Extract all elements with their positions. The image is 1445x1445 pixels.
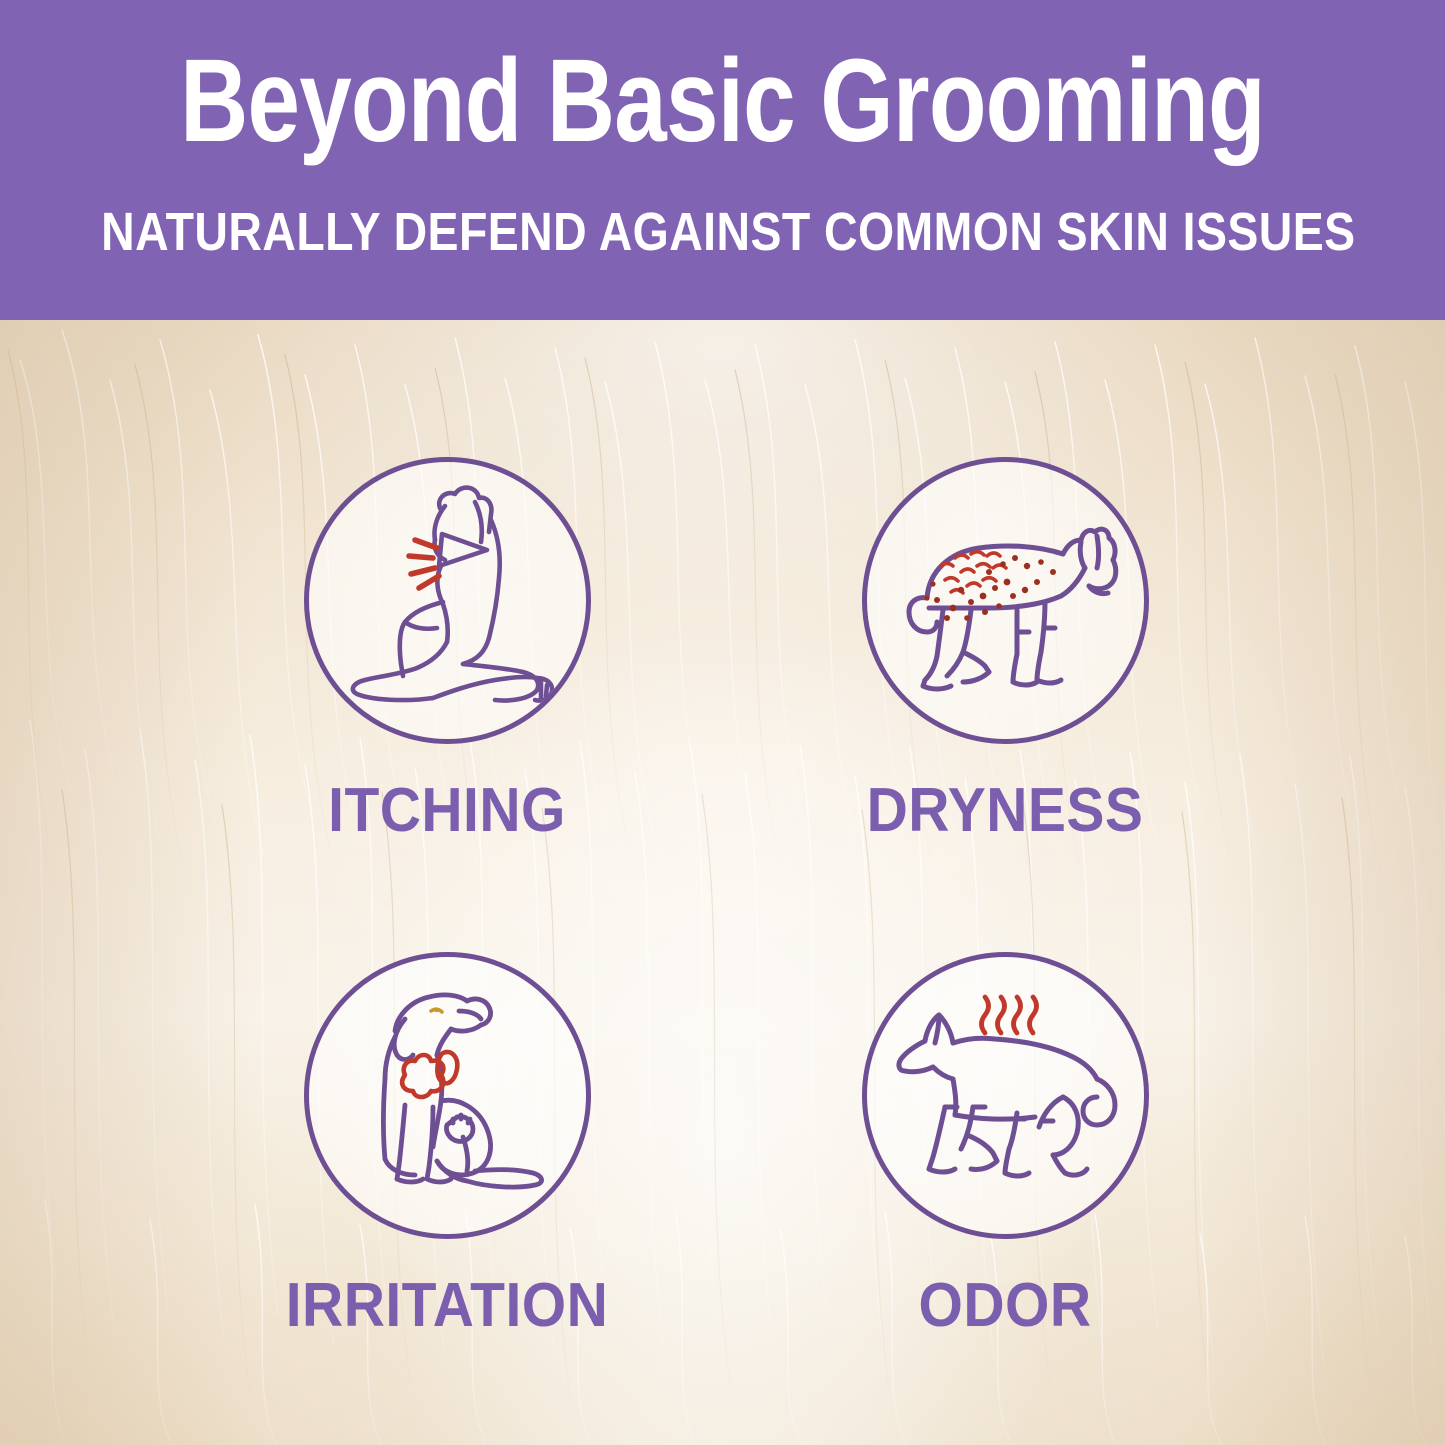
page-subtitle: NATURALLY DEFEND AGAINST COMMON SKIN ISS… [101, 205, 1344, 259]
irritation-alert-patches [402, 1052, 457, 1097]
dog-with-stink-lines-icon [867, 957, 1144, 1234]
issue-icon-circle-itching [304, 457, 591, 744]
issue-label-odor: ODOR [812, 1275, 1198, 1337]
issue-label-irritation: IRRITATION [254, 1275, 640, 1337]
issue-icon-circle-irritation [304, 952, 591, 1239]
itch-alert-lines [409, 540, 439, 588]
issue-label-itching: ITCHING [254, 780, 640, 842]
issue-item-dryness: DRYNESS [795, 457, 1215, 842]
odor-alert-lines [981, 997, 1036, 1033]
issue-item-irritation: IRRITATION [237, 952, 657, 1337]
skin-issues-grid: ITCHING [0, 320, 1445, 1445]
dog-scratching-ear-icon [309, 462, 586, 739]
issue-icon-circle-odor [862, 952, 1149, 1239]
issue-item-itching: ITCHING [237, 457, 657, 842]
dog-with-flaky-skin-icon [867, 462, 1144, 739]
issue-label-dryness: DRYNESS [812, 780, 1198, 842]
page-title: Beyond Basic Grooming [145, 42, 1301, 160]
product-infographic: Beyond Basic Grooming NATURALLY DEFEND A… [0, 0, 1445, 1445]
issue-item-odor: ODOR [795, 952, 1215, 1337]
issue-icon-circle-dryness [862, 457, 1149, 744]
irritation-alert-tuft [431, 1009, 442, 1012]
sitting-dog-with-red-patches-icon [309, 957, 586, 1234]
header-banner: Beyond Basic Grooming NATURALLY DEFEND A… [0, 0, 1445, 320]
